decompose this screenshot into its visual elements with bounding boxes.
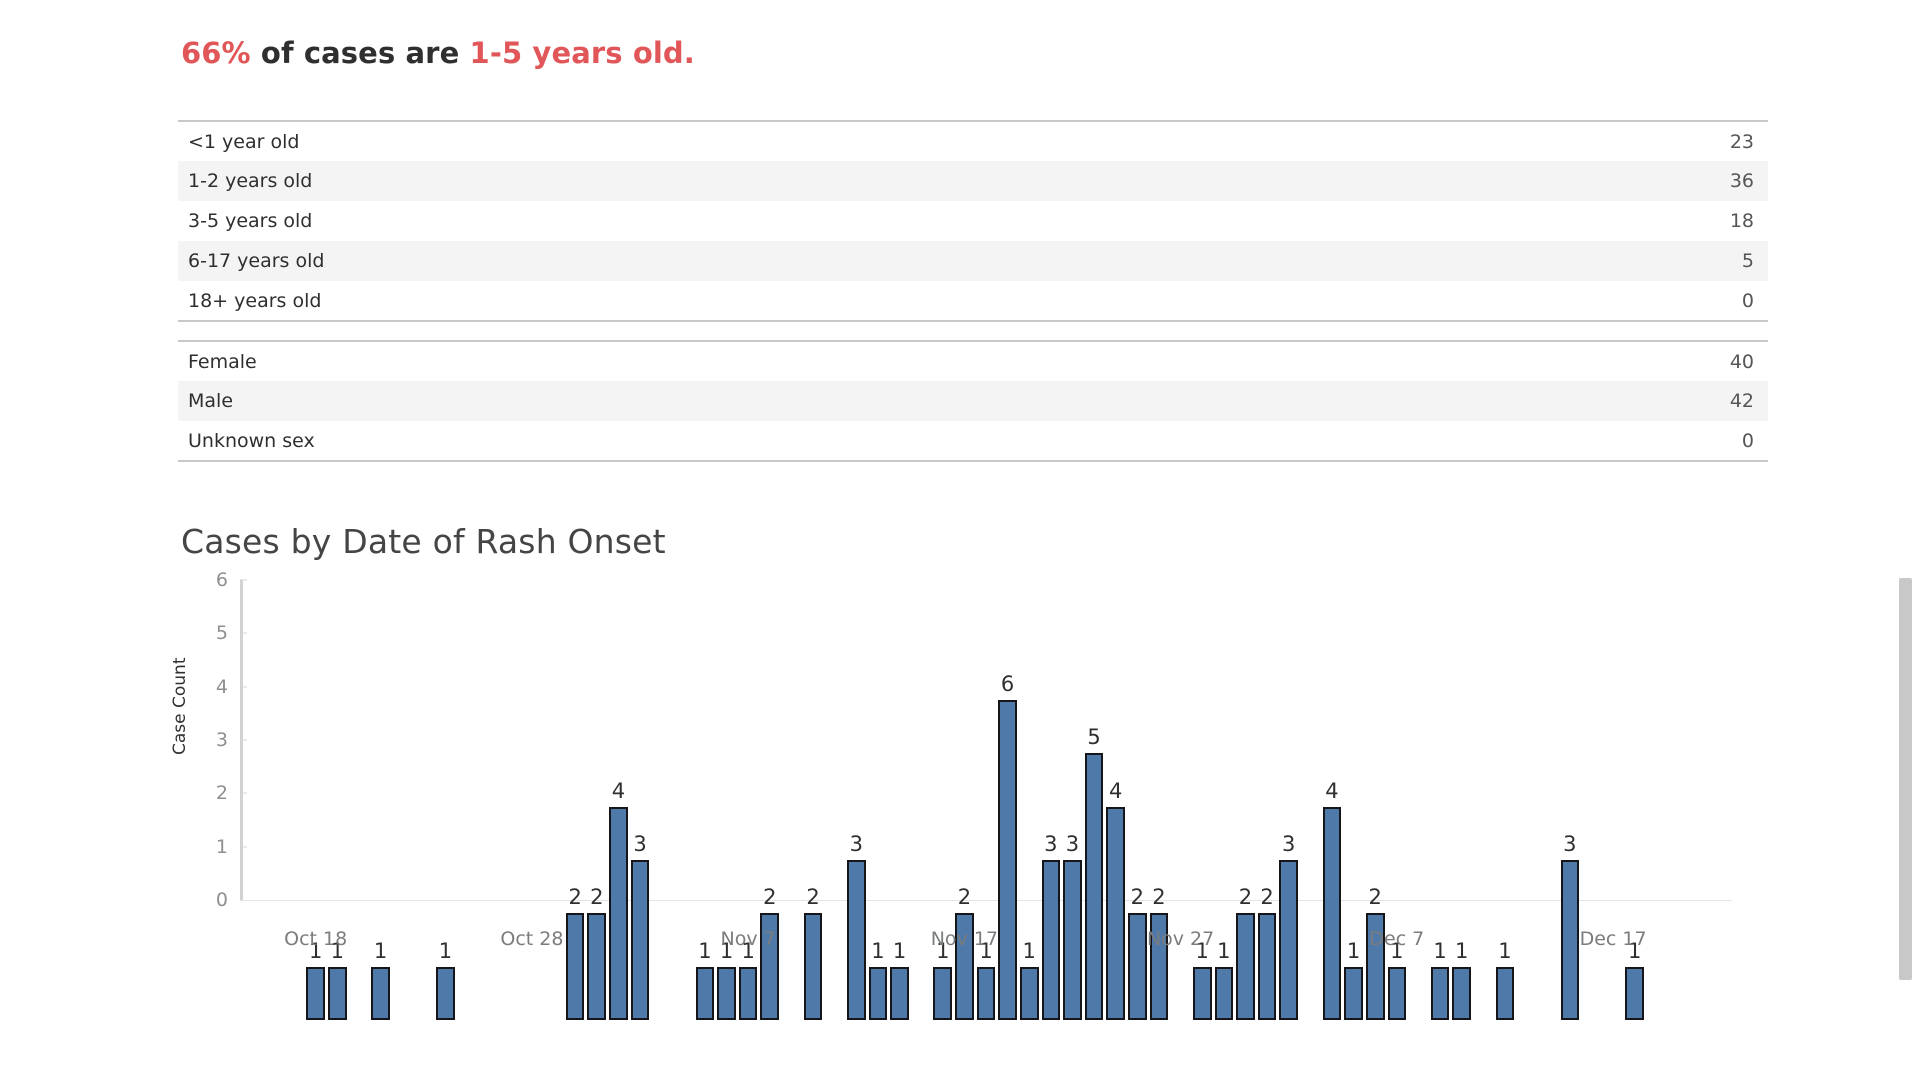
bar-value-label: 3 <box>850 832 863 856</box>
row-label: Female <box>178 341 1648 381</box>
bar-value-label: 3 <box>1044 832 1057 856</box>
bar-value-label: 2 <box>1152 885 1165 909</box>
vertical-scrollbar[interactable] <box>1899 578 1912 980</box>
headline-percent: 66% <box>181 36 251 70</box>
bar[interactable] <box>436 967 455 1020</box>
x-tick-label: Dec 7 <box>1369 928 1424 950</box>
x-tick-label: Dec 17 <box>1580 928 1647 950</box>
x-tick-label: Nov 7 <box>721 928 776 950</box>
row-label: 18+ years old <box>178 281 1648 321</box>
row-label: <1 year old <box>178 121 1648 161</box>
y-tick-label: 5 <box>188 622 228 644</box>
bar-value-label: 4 <box>1325 779 1338 803</box>
bar-value-label: 2 <box>568 885 581 909</box>
table-row[interactable]: Male42 <box>178 381 1768 421</box>
summary-section: <1 year old231-2 years old363-5 years ol… <box>178 120 1768 462</box>
bar[interactable] <box>933 967 952 1020</box>
bar[interactable] <box>869 967 888 1020</box>
table-row[interactable]: <1 year old23 <box>178 121 1768 161</box>
bar-value-label: 2 <box>590 885 603 909</box>
bar-value-label: 2 <box>958 885 971 909</box>
bar-value-label: 3 <box>633 832 646 856</box>
headline-age-phrase: 1-5 years old. <box>470 36 695 70</box>
bar-value-label: 5 <box>1087 725 1100 749</box>
row-value: 40 <box>1648 341 1768 381</box>
x-tick-label: Nov 27 <box>1147 928 1214 950</box>
bars-layer: 1111224311122311121613354221122341211113… <box>178 700 1778 1020</box>
y-tick-label: 6 <box>188 569 228 591</box>
row-label: Male <box>178 381 1648 421</box>
bar-value-label: 2 <box>1239 885 1252 909</box>
rash-onset-bar-chart: Case Count 0123456 111122431112231112161… <box>178 580 1778 1020</box>
bar-value-label: 3 <box>1282 832 1295 856</box>
bar[interactable] <box>1388 967 1407 1020</box>
x-tick-label: Nov 17 <box>931 928 998 950</box>
row-label: 1-2 years old <box>178 161 1648 201</box>
row-value: 23 <box>1648 121 1768 161</box>
headline-middle: of cases are <box>251 36 470 70</box>
row-label: 3-5 years old <box>178 201 1648 241</box>
table-row[interactable]: 18+ years old0 <box>178 281 1768 321</box>
table-row[interactable]: 6-17 years old5 <box>178 241 1768 281</box>
bar[interactable] <box>306 967 325 1020</box>
table-row[interactable]: Unknown sex0 <box>178 421 1768 461</box>
bar[interactable] <box>1215 967 1234 1020</box>
bar-value-label: 2 <box>1260 885 1273 909</box>
row-value: 0 <box>1648 421 1768 461</box>
page-headline: 66% of cases are 1-5 years old. <box>181 36 695 70</box>
bar[interactable] <box>1193 967 1212 1020</box>
dashboard-page: 66% of cases are 1-5 years old. <1 year … <box>0 0 1920 1080</box>
bar[interactable] <box>998 700 1017 1020</box>
x-axis-ticks: Oct 18Oct 28Nov 7Nov 17Nov 27Dec 7Dec 17 <box>240 910 1732 960</box>
bar-value-label: 4 <box>612 779 625 803</box>
bar-value-label: 2 <box>763 885 776 909</box>
row-value: 36 <box>1648 161 1768 201</box>
bar[interactable] <box>1431 967 1450 1020</box>
bar[interactable] <box>696 967 715 1020</box>
table-row[interactable]: Female40 <box>178 341 1768 381</box>
bar[interactable] <box>1344 967 1363 1020</box>
row-value: 5 <box>1648 241 1768 281</box>
y-tick-label: 4 <box>188 676 228 698</box>
bar[interactable] <box>1496 967 1515 1020</box>
chart-title: Cases by Date of Rash Onset <box>181 522 666 561</box>
bar[interactable] <box>890 967 909 1020</box>
x-tick-label: Oct 18 <box>284 928 347 950</box>
bar[interactable] <box>328 967 347 1020</box>
sex-breakdown-table: Female40Male42Unknown sex0 <box>178 340 1768 462</box>
bar[interactable] <box>1625 967 1644 1020</box>
row-label: 6-17 years old <box>178 241 1648 281</box>
bar-value-label: 4 <box>1109 779 1122 803</box>
x-tick-label: Oct 28 <box>500 928 563 950</box>
table-row[interactable]: 3-5 years old18 <box>178 201 1768 241</box>
bar-value-label: 3 <box>1066 832 1079 856</box>
bar[interactable] <box>1020 967 1039 1020</box>
bar-value-label: 2 <box>806 885 819 909</box>
age-breakdown-table: <1 year old231-2 years old363-5 years ol… <box>178 120 1768 322</box>
bar-value-label: 2 <box>1369 885 1382 909</box>
row-value: 0 <box>1648 281 1768 321</box>
bar-value-label: 3 <box>1563 832 1576 856</box>
row-value: 42 <box>1648 381 1768 421</box>
bar-value-label: 6 <box>1001 672 1014 696</box>
bar[interactable] <box>1085 753 1104 1020</box>
row-value: 18 <box>1648 201 1768 241</box>
bar[interactable] <box>1452 967 1471 1020</box>
table-row[interactable]: 1-2 years old36 <box>178 161 1768 201</box>
table-gap <box>178 322 1768 340</box>
bar[interactable] <box>739 967 758 1020</box>
bar-value-label: 2 <box>1131 885 1144 909</box>
bar[interactable] <box>717 967 736 1020</box>
row-label: Unknown sex <box>178 421 1648 461</box>
bar[interactable] <box>977 967 996 1020</box>
bar[interactable] <box>371 967 390 1020</box>
